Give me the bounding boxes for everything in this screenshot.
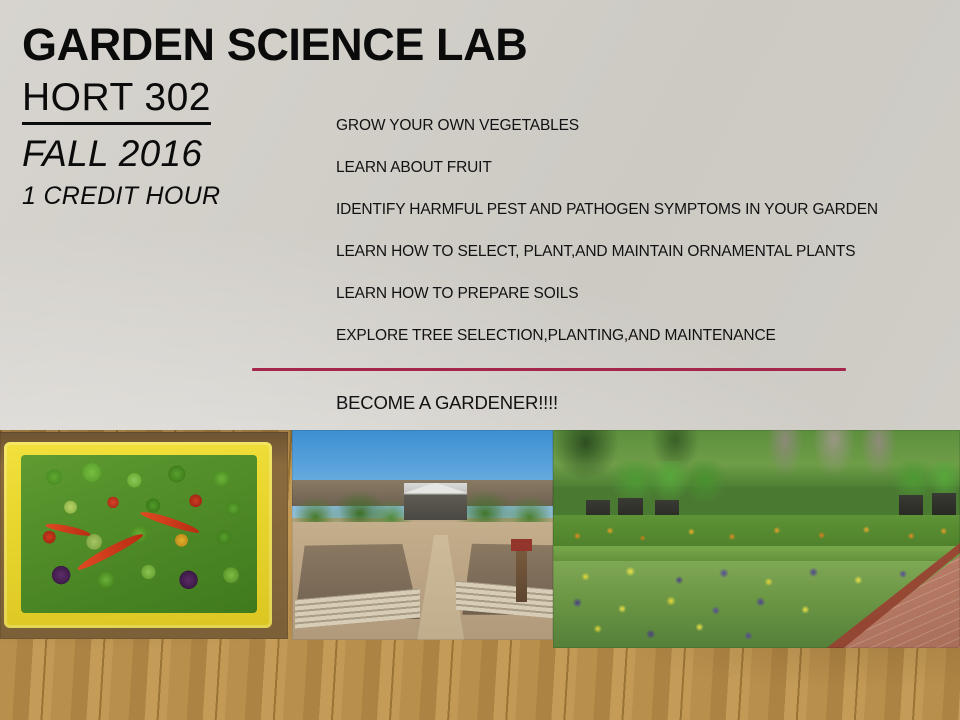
- crate-contents: [21, 455, 257, 613]
- list-item: IDENTIFY HARMFUL PEST AND PATHOGEN SYMPT…: [336, 202, 952, 218]
- photo-flower-bed: [553, 430, 960, 648]
- credit-hours-label: 1 CREDIT HOUR: [22, 182, 222, 211]
- list-item: LEARN ABOUT FRUIT: [336, 160, 952, 176]
- photo-raised-beds: [292, 430, 553, 640]
- course-highlights-list: GROW YOUR OWN VEGETABLES LEARN ABOUT FRU…: [336, 118, 952, 370]
- chili-pepper: [139, 509, 200, 536]
- chili-pepper: [44, 521, 90, 537]
- crate-shape: [4, 442, 272, 628]
- list-item: EXPLORE TREE SELECTION,PLANTING,AND MAIN…: [336, 328, 952, 344]
- horizontal-divider: [252, 368, 846, 371]
- course-code: HORT 302: [22, 78, 211, 125]
- photo-band: [0, 430, 960, 720]
- mailbox-post: [516, 548, 526, 603]
- tagline: BECOME A GARDENER!!!!: [336, 392, 558, 414]
- list-item: GROW YOUR OWN VEGETABLES: [336, 118, 952, 134]
- list-item: LEARN HOW TO SELECT, PLANT,AND MAINTAIN …: [336, 244, 952, 260]
- slide-canvas: GARDEN SCIENCE LAB HORT 302 FALL 2016 1 …: [0, 0, 960, 720]
- photo-vegetable-crate: [0, 432, 288, 639]
- list-item: LEARN HOW TO PREPARE SOILS: [336, 286, 952, 302]
- chili-pepper: [75, 530, 145, 573]
- page-title: GARDEN SCIENCE LAB: [22, 22, 492, 69]
